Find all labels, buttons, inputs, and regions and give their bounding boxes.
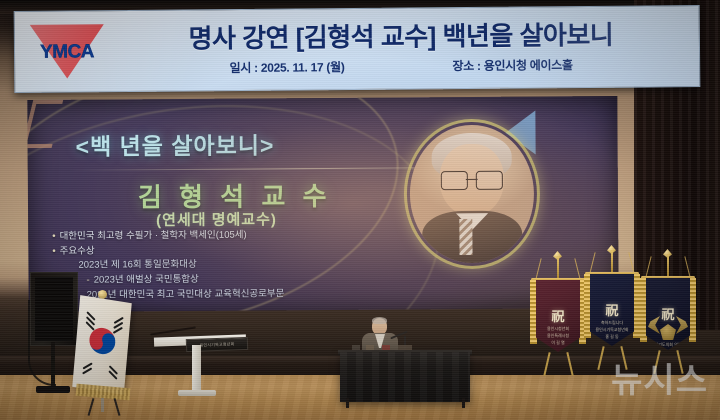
pennant-mast (557, 256, 559, 280)
bullet-dot-icon: • (52, 231, 55, 242)
banner-subline: 일시 : 2025. 11. 17 (월) 장소 : 용인시청 에이스홀 (113, 55, 689, 77)
bullet-text: 주요수상 (60, 245, 95, 256)
head-table (340, 352, 470, 402)
korean-flag (72, 295, 132, 395)
newsis-watermark: 뉴시스 (611, 353, 708, 402)
ymca-logo: YMCA (21, 20, 114, 83)
bullet-dot-icon: • (52, 246, 55, 257)
pennant-jc-character: 祝 (590, 300, 634, 319)
photo-scene: YMCA 명사 강연 [김형석 교수] 백년을 살아보니 일시 : 2025. … (0, 0, 720, 420)
pennant-jc-character: 祝 (646, 304, 690, 323)
pennant-fringe (530, 280, 537, 344)
pennant-mast (611, 250, 613, 274)
pennant-fringe (689, 278, 696, 342)
pennant-mast (667, 254, 669, 278)
event-banner: YMCA 명사 강연 [김형석 교수] 백년을 살아보니 일시 : 2025. … (14, 5, 701, 93)
bullet-text: 2023년 애벌상 국민통합상 (94, 274, 199, 286)
speaker-stand-pole (51, 342, 55, 388)
table-leg (346, 398, 349, 408)
portrait-frame-ring (403, 118, 540, 269)
pennant-emblem-icon (660, 324, 676, 340)
pennant-line: 용인시기독교청년회 (590, 327, 634, 334)
pennant-fringe (633, 274, 640, 338)
bullet-text: 2021년 대한민국 최고 국민대상 교육혁신공로부문 (87, 288, 285, 300)
pennant-stand (542, 352, 574, 376)
pennant-cloth: 祝 축하드립니다 용인시기독교청년회 홍 길 동 (590, 274, 634, 346)
bullet-text: 2023년 제 16회 통일문화대상 (78, 259, 196, 271)
slide-speaker-affiliation: (연세대 명예교수) (156, 208, 277, 230)
banner-venue: 장소 : 용인시청 에이스홀 (452, 56, 572, 74)
lectern-column (192, 345, 201, 393)
pennant-jc-character: 祝 (536, 306, 580, 325)
pennant-cloth: 祝 용인시청년회 용인특례시청 이 길 열 (536, 280, 580, 352)
pennant-line: 용인특례시청 (536, 333, 580, 340)
speaker-stand-base (36, 386, 70, 393)
speaker-portrait (403, 118, 540, 269)
bullet-text: 대한민국 최고령 수필가 · 철학자 백세인(105세) (60, 230, 247, 242)
table-leg (462, 398, 465, 408)
pennant-fringe (640, 278, 647, 342)
banner-text-block: 명사 강연 [김형석 교수] 백년을 살아보니 일시 : 2025. 11. 1… (113, 20, 699, 78)
seated-speaker-hair (372, 317, 387, 324)
flag-stand (84, 398, 124, 416)
bullet-dash-icon: - (86, 275, 89, 286)
pennant-line: 용인시청년회 (536, 326, 580, 333)
pennant-line: 축하드립니다 (590, 320, 634, 327)
speaker-grill (35, 277, 73, 341)
banner-date: 일시 : 2025. 11. 17 (월) (230, 58, 345, 76)
pennant-fringe (584, 274, 591, 338)
banner-title: 명사 강연 [김형석 교수] 백년을 살아보니 (188, 20, 613, 52)
loudspeaker-icon (30, 272, 78, 346)
lectern-base (178, 390, 216, 396)
pennant-cloth: 祝 경기도의회 의원 박 성 우 (646, 278, 690, 350)
ymca-logo-text: YMCA (40, 41, 94, 63)
slide-title: <백 년을 살아보니> (75, 126, 274, 161)
slide-bullet-list: •대한민국 최고령 수필가 · 철학자 백세인(105세) •주요수상 2023… (52, 227, 453, 303)
table-drape (340, 352, 470, 402)
